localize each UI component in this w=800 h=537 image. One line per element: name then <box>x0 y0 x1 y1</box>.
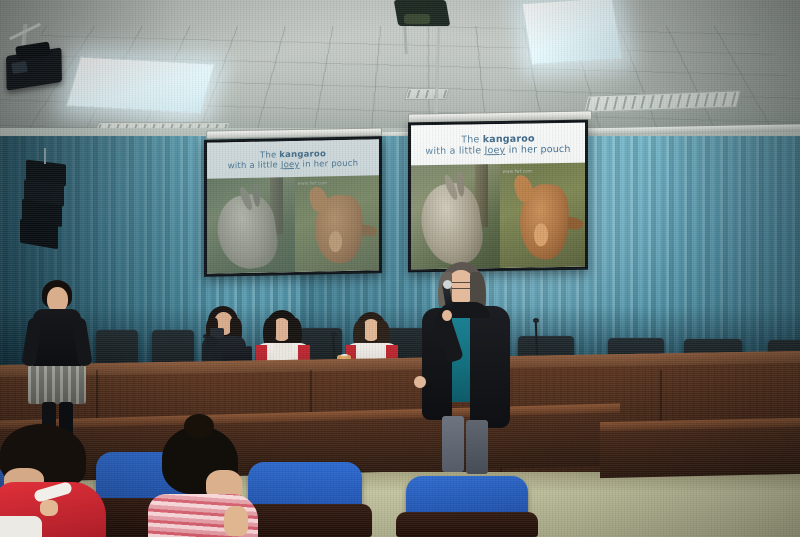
woman-standing-left <box>20 280 94 436</box>
screen-glare <box>411 123 585 270</box>
screen-surface: The kangaroo with a little Joey in her p… <box>207 139 379 274</box>
microphone-head <box>533 318 539 323</box>
hand <box>414 376 426 388</box>
screen-border: The kangaroo with a little Joey in her p… <box>204 136 382 277</box>
screen-dim-overlay <box>207 139 379 274</box>
screen-border: The kangaroo with a little Joey in her p… <box>408 120 588 273</box>
projector-lens <box>11 61 28 74</box>
coat-right-panel <box>470 306 510 428</box>
audience-child-striped <box>154 422 284 537</box>
hair-bun <box>184 414 214 438</box>
hand <box>224 506 248 536</box>
lecture-hall-photo: The kangaroo with a little Joey in her p… <box>0 0 800 537</box>
skirt-pleats <box>28 366 86 404</box>
line-array-speaker <box>18 162 66 260</box>
microphone-head <box>443 280 452 289</box>
leg <box>442 416 464 472</box>
light-grill <box>586 92 739 110</box>
hand <box>40 500 58 516</box>
screen-surface: The kangaroo with a little Joey in her p… <box>411 123 585 270</box>
ceiling-light-panel <box>66 56 215 113</box>
microphone-head <box>331 332 337 337</box>
jacket-white-panel <box>0 516 42 537</box>
projector-lens <box>404 14 430 24</box>
presenter-with-microphone <box>416 262 518 472</box>
ceiling-light-panel <box>522 0 623 65</box>
hand <box>442 310 452 321</box>
seat-base <box>396 512 538 537</box>
ceiling-light-fixture <box>404 88 450 100</box>
pleated-skirt <box>28 366 86 404</box>
audience-child-red-jacket <box>0 424 140 537</box>
light-grill <box>407 90 448 98</box>
leg <box>466 420 488 474</box>
